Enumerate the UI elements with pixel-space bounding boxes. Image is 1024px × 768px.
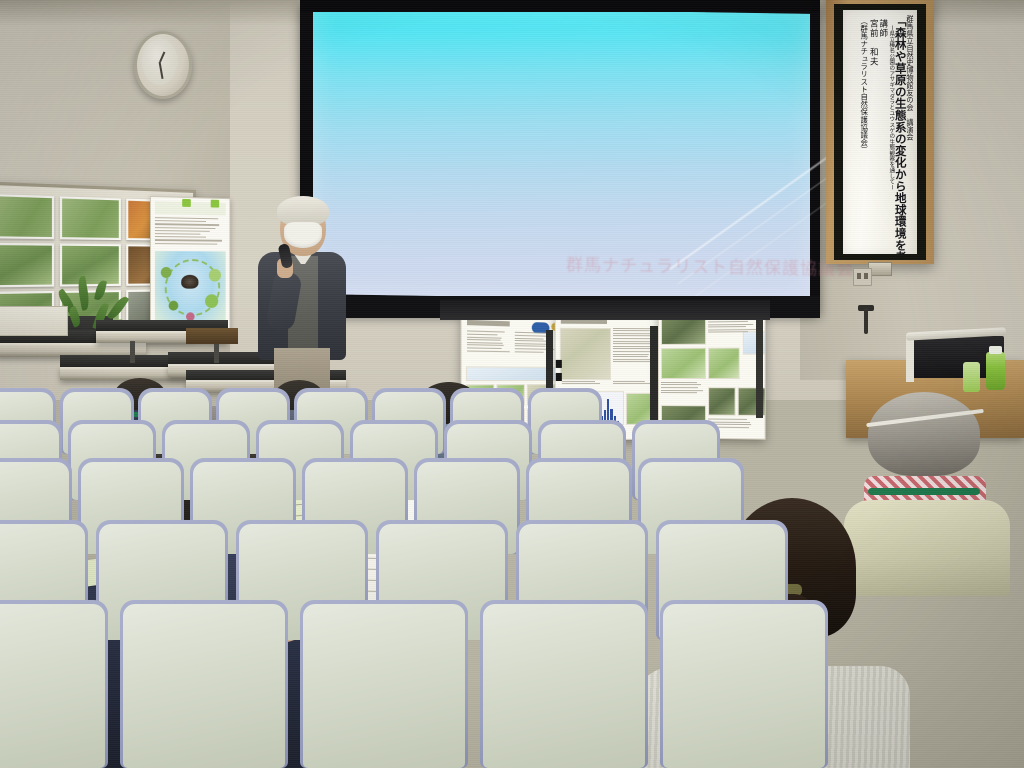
poster-text-line [613,333,652,334]
banner-organizer: 群馬県立自然史博物館友の会 講演会 [907,15,914,141]
poster-stand-leg [756,318,763,418]
poster-text-line [155,220,206,222]
face-mask [284,222,322,248]
poster-text-line [613,330,650,331]
poster-text-line [155,239,222,241]
poster-text-line [613,346,652,347]
poster-image [560,327,611,380]
poster-text-line [515,340,550,342]
poster-text-line [661,387,698,388]
poster-text-line [515,351,544,353]
auditorium-seat[interactable] [660,600,828,768]
stage-rail [440,300,770,320]
poster-text-line [613,359,654,360]
poster-text-line [515,346,546,348]
poster-cycle-diagram [155,251,226,331]
poster-text-line [155,217,218,219]
plant-leaf [107,294,130,321]
poster-marker [556,360,562,368]
bottle-cap [989,346,1002,354]
poster-text-line [467,331,505,333]
poster-text-line [467,350,510,352]
auditorium-seat[interactable] [120,600,288,768]
poster-text-line [613,354,648,355]
photo-scene: 群馬ナチュラリスト自然保護協議会 [0,0,1024,768]
paper-stack [0,306,68,336]
banner-affiliation: （群馬ナチュラリスト自然保護協議会） [860,15,867,154]
seat-cushion [123,604,285,768]
cycle-node [205,294,218,308]
banner-speaker-name: 宮前 和夫 [869,15,878,67]
poster-chip [182,199,191,207]
poster-text-line [613,348,651,349]
poster-text-line [708,329,762,331]
poster-text-line [661,390,703,391]
poster-text-line [467,345,504,347]
wooden-box [186,328,238,344]
event-banner: 群馬県立自然史博物館友の会 講演会 「森林や草原の生態系の変化から地球環境を考え… [843,10,917,254]
table-leg [130,341,135,363]
board-photo [0,194,54,239]
poster-text-line [661,382,696,383]
poster-text-line [561,381,594,382]
poster-text-line [155,233,200,235]
poster-text-line [155,223,219,225]
plant-leaf [76,276,91,311]
seat-cushion [303,604,465,768]
poster-text-line [661,392,697,393]
poster-image [708,348,740,379]
green-bottle-small [963,362,980,392]
green-bottle [986,352,1005,390]
table-leg [214,341,219,363]
poster-text-line [661,384,701,385]
banner-subtitle: ー県立榛名公園のアサギマダラとユウスゲの生態観察を通してー [888,15,894,190]
poster-text-line [467,334,498,336]
cycle-node [209,269,221,282]
butterfly-icon [181,275,198,289]
poster-text-line [467,339,501,341]
auditorium-seat[interactable] [480,600,648,768]
auditorium-seat[interactable] [300,600,468,768]
presenter [248,196,358,396]
poster-text-line [708,321,748,323]
banner-speaker-label: 講師 [878,15,887,38]
seat-cushion [663,604,825,768]
poster-text-line [467,347,501,349]
poster-title-bar [467,320,510,327]
screen-watermark-text: 群馬ナチュラリスト自然保護協議会 [566,250,766,277]
clock-face [142,39,178,85]
wall-outlet[interactable] [853,268,872,286]
poster-text-line [708,324,753,326]
board-photo [0,243,54,288]
equipment-post [906,336,914,382]
poster-text-line [613,338,654,339]
banner-title: 「森林や草原の生態系の変化から地球環境を考える」 [894,15,906,254]
poster-text-lines [155,217,226,247]
poster-text-line [561,383,599,384]
cable-hook [864,308,868,334]
board-photo [60,196,121,240]
poster-image [708,387,736,416]
poster-text-line [155,243,217,245]
poster-text-line [708,326,746,328]
screen-top-bar [300,0,820,12]
poster-text-line [613,351,655,352]
seat-cushion [0,604,105,768]
clock-minute-hand [159,62,164,79]
cycle-node [161,267,172,278]
auditorium-seat[interactable] [0,600,108,768]
poster-text-line [467,336,502,338]
poster-text-line [613,343,653,344]
poster-text-line [155,227,215,229]
poster-text-line [515,338,544,340]
lanyard [868,488,980,495]
poster-text-line [613,335,650,336]
poster-text-line [613,356,648,357]
poster-text-line [467,342,502,344]
poster-image [466,366,557,381]
ecology-cycle-poster [150,196,230,336]
clock-hour-hand [159,52,165,63]
poster-text-line [515,332,548,334]
plant-leaf [67,306,83,328]
poster-marker [556,373,562,381]
poster-image [661,348,705,379]
poster-chip [211,200,219,208]
seat-cushion [483,604,645,768]
poster-text-line [708,419,747,421]
poster-text-line [155,236,206,238]
poster-text-line [613,381,645,382]
poster-text-line [515,343,548,345]
plant-leaf [94,280,107,301]
poster-text-line [155,230,210,232]
